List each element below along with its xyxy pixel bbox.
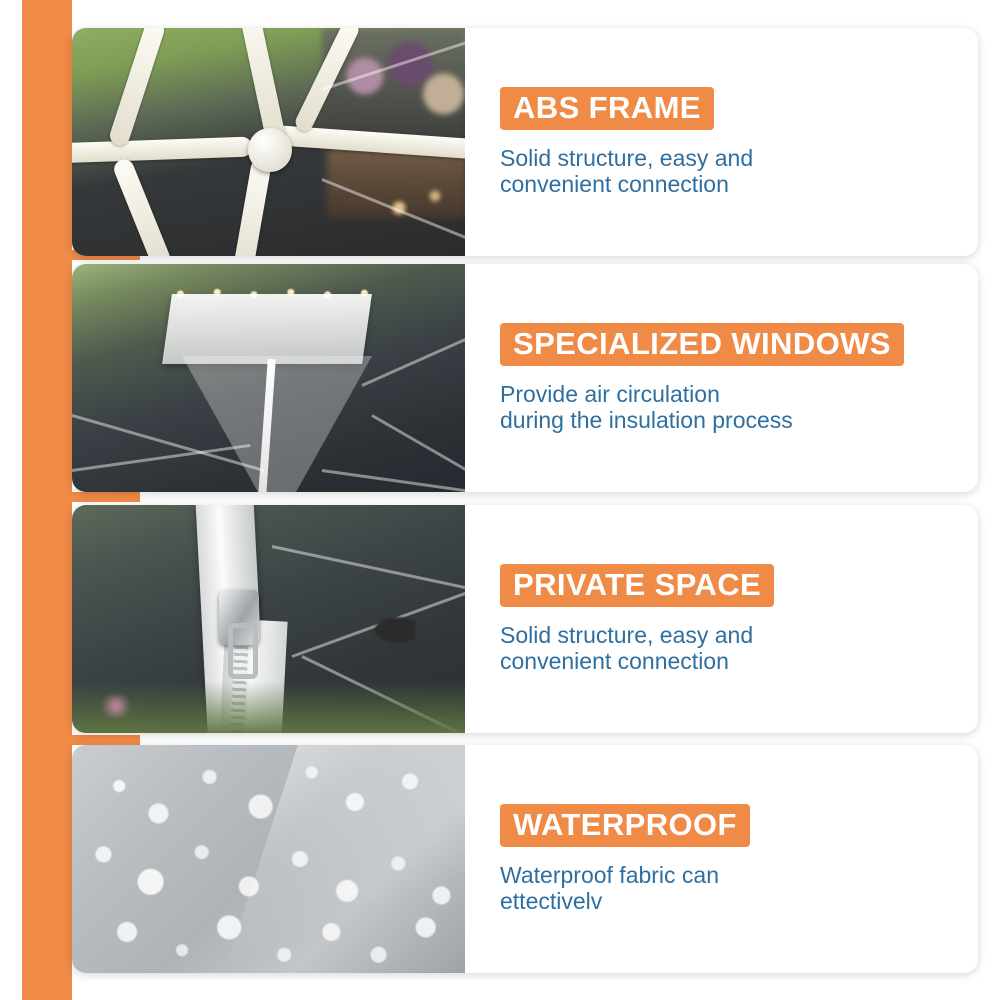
feature-description-line: ettectivelv — [500, 889, 860, 915]
feature-description-specialized-windows: Provide air circulation during the insul… — [500, 382, 900, 434]
feature-description-private-space: Solid structure, easy and convenient con… — [500, 623, 860, 675]
feature-description-line: convenient connection — [500, 172, 860, 198]
feature-photo-specialized-windows — [72, 264, 465, 492]
feature-description-waterproof: Waterproof fabric can ettectivelv — [500, 863, 860, 915]
feature-description-line: convenient connection — [500, 649, 860, 675]
feature-description-abs-frame: Solid structure, easy and convenient con… — [500, 146, 860, 198]
feature-description-line: Solid structure, easy and — [500, 623, 860, 649]
feature-description-line: Waterproof fabric can — [500, 863, 860, 889]
feature-badge-specialized-windows: SPECIALIZED WINDOWS — [500, 323, 904, 366]
feature-card-waterproof: WATERPROOF Waterproof fabric can ettecti… — [72, 745, 978, 973]
feature-badge-waterproof: WATERPROOF — [500, 804, 750, 847]
feature-card-abs-frame: ABS FRAME Solid structure, easy and conv… — [72, 28, 978, 256]
feature-infographic-page: ABS FRAME Solid structure, easy and conv… — [0, 0, 1000, 1000]
feature-description-line: Provide air circulation — [500, 382, 900, 408]
feature-description-line: Solid structure, easy and — [500, 146, 860, 172]
feature-photo-private-space — [72, 505, 465, 733]
feature-description-line: during the insulation process — [500, 408, 900, 434]
feature-text-specialized-windows: SPECIALIZED WINDOWS Provide air circulat… — [465, 264, 978, 492]
feature-badge-private-space: PRIVATE SPACE — [500, 564, 774, 607]
feature-text-abs-frame: ABS FRAME Solid structure, easy and conv… — [465, 28, 978, 256]
feature-text-waterproof: WATERPROOF Waterproof fabric can ettecti… — [465, 745, 978, 973]
feature-card-private-space: PRIVATE SPACE Solid structure, easy and … — [72, 505, 978, 733]
left-bar-notch-3 — [22, 735, 140, 745]
feature-photo-waterproof — [72, 745, 465, 973]
feature-photo-abs-frame — [72, 28, 465, 256]
left-bar-notch-2 — [22, 492, 140, 502]
feature-card-specialized-windows: SPECIALIZED WINDOWS Provide air circulat… — [72, 264, 978, 492]
feature-badge-abs-frame: ABS FRAME — [500, 87, 714, 130]
feature-text-private-space: PRIVATE SPACE Solid structure, easy and … — [465, 505, 978, 733]
